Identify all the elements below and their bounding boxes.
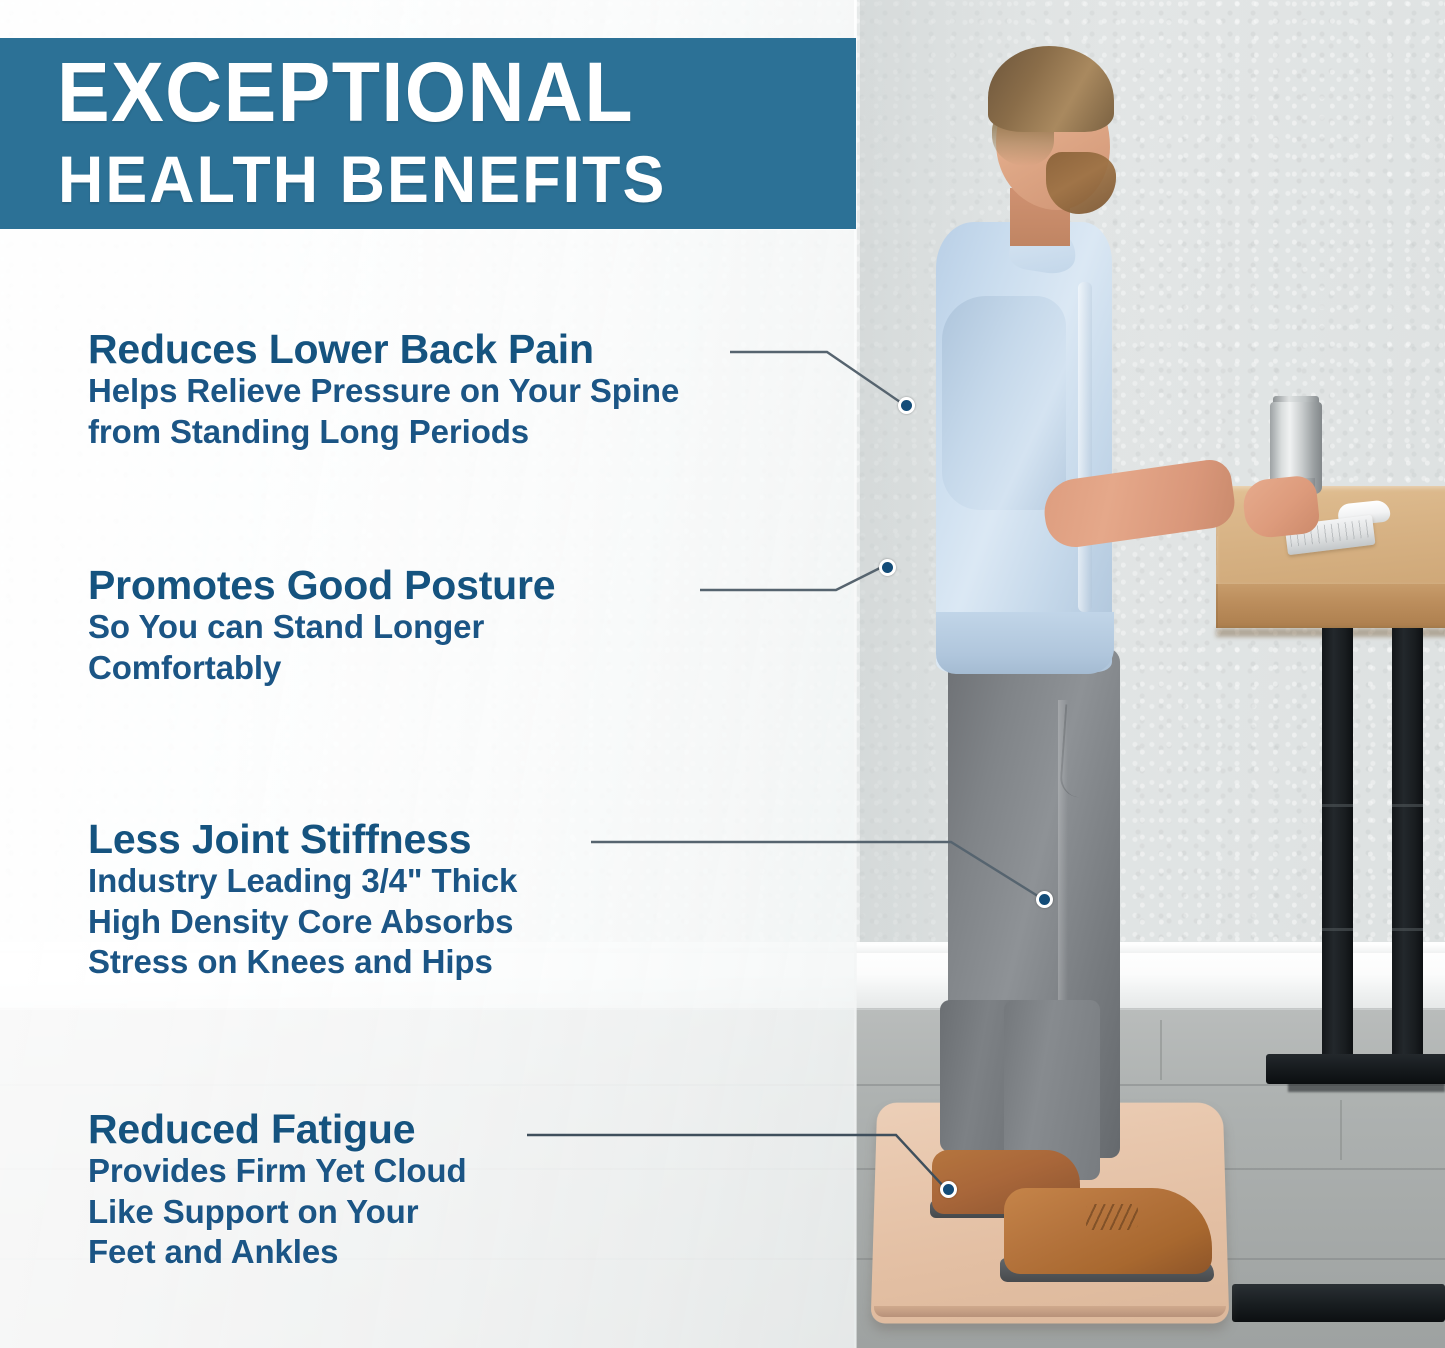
shirt-placket [1078, 282, 1092, 612]
benefit-title: Reduces Lower Back Pain [88, 328, 679, 371]
desk-edge [1216, 584, 1445, 628]
benefit-line: Helps Relieve Pressure on Your Spine [88, 371, 679, 412]
callout-dot-lower-back [898, 397, 915, 414]
benefit-block-reduces-lower-back-pain: Reduces Lower Back Pain Helps Relieve Pr… [88, 328, 679, 452]
benefit-line: Like Support on Your [88, 1192, 467, 1233]
banner-title-line1: EXCEPTIONAL [57, 50, 634, 134]
benefit-line: Feet and Ankles [88, 1232, 467, 1273]
benefit-title: Less Joint Stiffness [88, 818, 517, 861]
benefit-block-promotes-good-posture: Promotes Good Posture So You can Stand L… [88, 564, 555, 688]
benefit-title: Promotes Good Posture [88, 564, 555, 607]
benefit-line: Comfortably [88, 648, 555, 689]
benefit-line: Provides Firm Yet Cloud [88, 1151, 467, 1192]
shoe-laces [1086, 1204, 1138, 1230]
benefit-line: from Standing Long Periods [88, 412, 679, 453]
anti-fatigue-mat-edge [874, 1306, 1226, 1317]
callout-dot-fatigue [940, 1181, 957, 1198]
header-banner: EXCEPTIONAL HEALTH BENEFITS [0, 38, 856, 229]
shirt-hem [936, 612, 1114, 674]
shirt-sleeve [942, 296, 1066, 510]
front-shoe [1004, 1188, 1212, 1274]
desk-leg-left [1322, 628, 1353, 1060]
banner-title-line2: HEALTH BENEFITS [58, 146, 666, 212]
benefit-block-reduced-fatigue: Reduced Fatigue Provides Firm Yet Cloud … [88, 1108, 467, 1273]
callout-dot-posture [879, 559, 896, 576]
product-benefits-infographic: EXCEPTIONAL HEALTH BENEFITS Reduces Lowe… [0, 0, 1445, 1348]
callout-dot-joint-stiffness [1036, 891, 1053, 908]
benefit-line: Industry Leading 3/4" Thick [88, 861, 517, 902]
benefit-line: High Density Core Absorbs [88, 902, 517, 943]
benefit-line: Stress on Knees and Hips [88, 942, 517, 983]
benefit-line: So You can Stand Longer [88, 607, 555, 648]
desk-foot-rear-rail [1232, 1284, 1445, 1322]
desk-foot-front [1266, 1054, 1445, 1084]
benefit-block-less-joint-stiffness: Less Joint Stiffness Industry Leading 3/… [88, 818, 517, 983]
desk-leg-right [1392, 628, 1423, 1060]
benefit-title: Reduced Fatigue [88, 1108, 467, 1151]
hand [1241, 474, 1321, 539]
